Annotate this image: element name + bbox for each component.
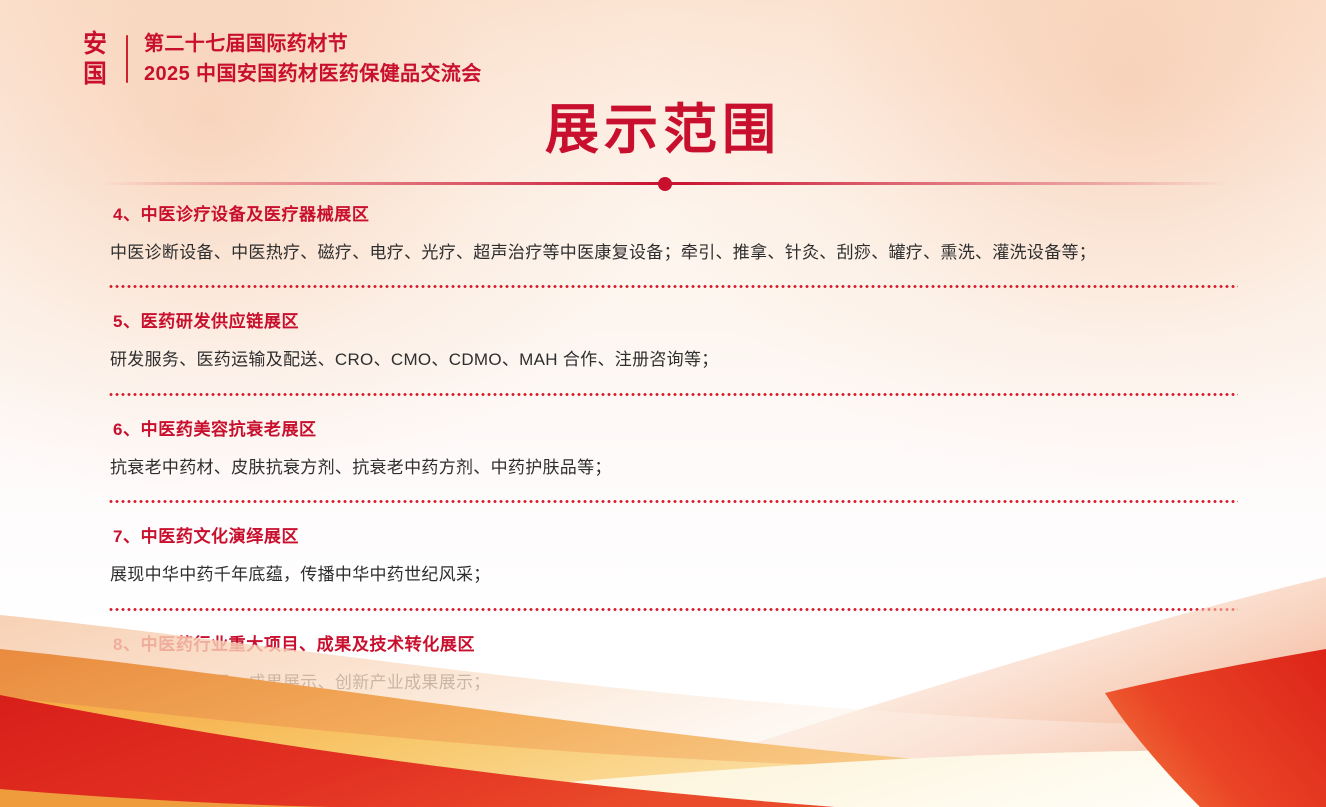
divider-dot [658,177,672,191]
section-body: 中医药项目展示、成果展示、创新产业成果展示； [110,673,1326,693]
section-body: 抗衰老中药材、皮肤抗衰方剂、抗衰老中药方剂、中药护肤品等； [110,458,1326,478]
section-body: 中医诊断设备、中医热疗、磁疗、电疗、光疗、超声治疗等中医康复设备；牵引、推拿、针… [110,243,1326,263]
section-heading: 8、中医药行业重大项目、成果及技术转化展区 [113,636,1326,653]
section-list: 4、中医诊疗设备及医疗器械展区中医诊断设备、中医热疗、磁疗、电疗、光疗、超声治疗… [0,206,1326,693]
section-separator [108,393,1238,396]
logo-char-guo: 国 [79,60,111,88]
section: 4、中医诊疗设备及医疗器械展区中医诊断设备、中医热疗、磁疗、电疗、光疗、超声治疗… [0,206,1326,288]
section-separator [108,608,1238,611]
anguo-seal-logo: 安 国 [78,30,112,88]
section-heading: 4、中医诊疗设备及医疗器械展区 [113,206,1326,223]
section-heading: 7、中医药文化演绎展区 [113,528,1326,545]
section-heading: 5、医药研发供应链展区 [113,313,1326,330]
brand-line-1: 第二十七届国际药材节 [144,31,482,57]
section: 6、中医药美容抗衰老展区抗衰老中药材、皮肤抗衰方剂、抗衰老中药方剂、中药护肤品等… [0,421,1326,503]
slide-page: 安 国 第二十七届国际药材节 2025 中国安国药材医药保健品交流会 展示范围 … [0,0,1326,807]
brand-line-2: 2025 中国安国药材医药保健品交流会 [144,61,482,87]
title-divider [100,182,1230,185]
header-vertical-rule [126,35,128,83]
logo-char-an: 安 [79,30,111,58]
section: 5、医药研发供应链展区研发服务、医药运输及配送、CRO、CMO、CDMO、MAH… [0,313,1326,395]
section: 8、中医药行业重大项目、成果及技术转化展区中医药项目展示、成果展示、创新产业成果… [0,636,1326,693]
page-title-wrap: 展示范围 [0,102,1326,156]
section-separator [108,285,1238,288]
section-body: 研发服务、医药运输及配送、CRO、CMO、CDMO、MAH 合作、注册咨询等； [110,350,1326,370]
page-title: 展示范围 [0,102,1326,156]
section: 7、中医药文化演绎展区展现中华中药千年底蕴，传播中华中药世纪风采； [0,528,1326,610]
section-heading: 6、中医药美容抗衰老展区 [113,421,1326,438]
header: 安 国 第二十七届国际药材节 2025 中国安国药材医药保健品交流会 [78,30,482,88]
brand-text: 第二十七届国际药材节 2025 中国安国药材医药保健品交流会 [144,31,482,88]
section-separator [108,500,1238,503]
section-body: 展现中华中药千年底蕴，传播中华中药世纪风采； [110,565,1326,585]
